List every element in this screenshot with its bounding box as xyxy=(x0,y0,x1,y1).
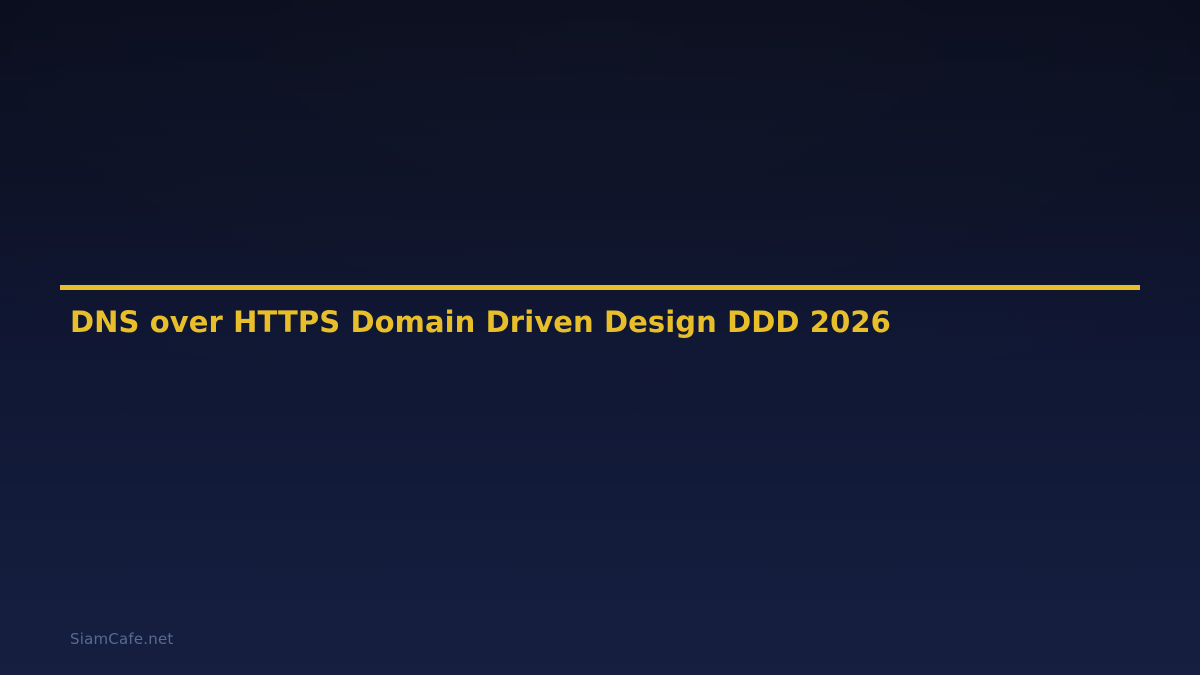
title-block: DNS over HTTPS Domain Driven Design DDD … xyxy=(70,302,1140,342)
slide-footer: SiamCafe.net xyxy=(70,629,173,649)
slide-title: DNS over HTTPS Domain Driven Design DDD … xyxy=(70,302,1140,342)
footer-brand-label: SiamCafe.net xyxy=(70,630,173,648)
title-accent-bar xyxy=(60,285,1140,290)
presentation-slide: DNS over HTTPS Domain Driven Design DDD … xyxy=(0,0,1200,675)
